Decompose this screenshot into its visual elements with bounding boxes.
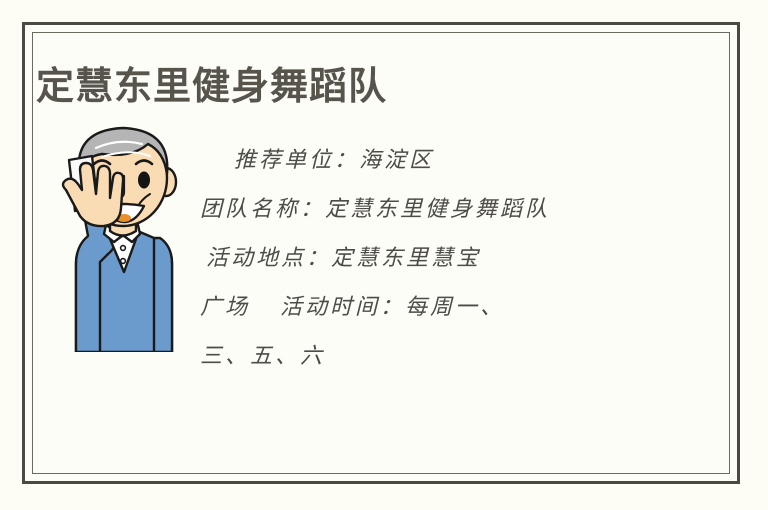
info-block: 推荐单位：海淀区 团队名称：定慧东里健身舞蹈队 活动地点：定慧东里慧宝 广场 活… bbox=[200, 136, 650, 381]
poster-card: 定慧东里健身舞蹈队 bbox=[0, 0, 768, 510]
sweater-right-sleeve bbox=[154, 238, 172, 352]
info-line-activity-time-cont: 三、五、六 bbox=[200, 332, 650, 381]
eye-right bbox=[138, 172, 150, 189]
info-line-team-name: 团队名称：定慧东里健身舞蹈队 bbox=[200, 185, 650, 234]
elderly-man-on-phone-illustration bbox=[36, 112, 206, 352]
shirt-button-3 bbox=[121, 259, 126, 264]
info-line-activity-time: 广场 活动时间：每周一、 bbox=[200, 283, 650, 332]
info-line-activity-place: 活动地点：定慧东里慧宝 bbox=[200, 234, 650, 283]
info-line-recommending-unit: 推荐单位：海淀区 bbox=[200, 136, 650, 185]
page-title: 定慧东里健身舞蹈队 bbox=[36, 65, 387, 111]
shirt-button-2 bbox=[121, 246, 126, 251]
illustration-svg bbox=[36, 112, 206, 352]
